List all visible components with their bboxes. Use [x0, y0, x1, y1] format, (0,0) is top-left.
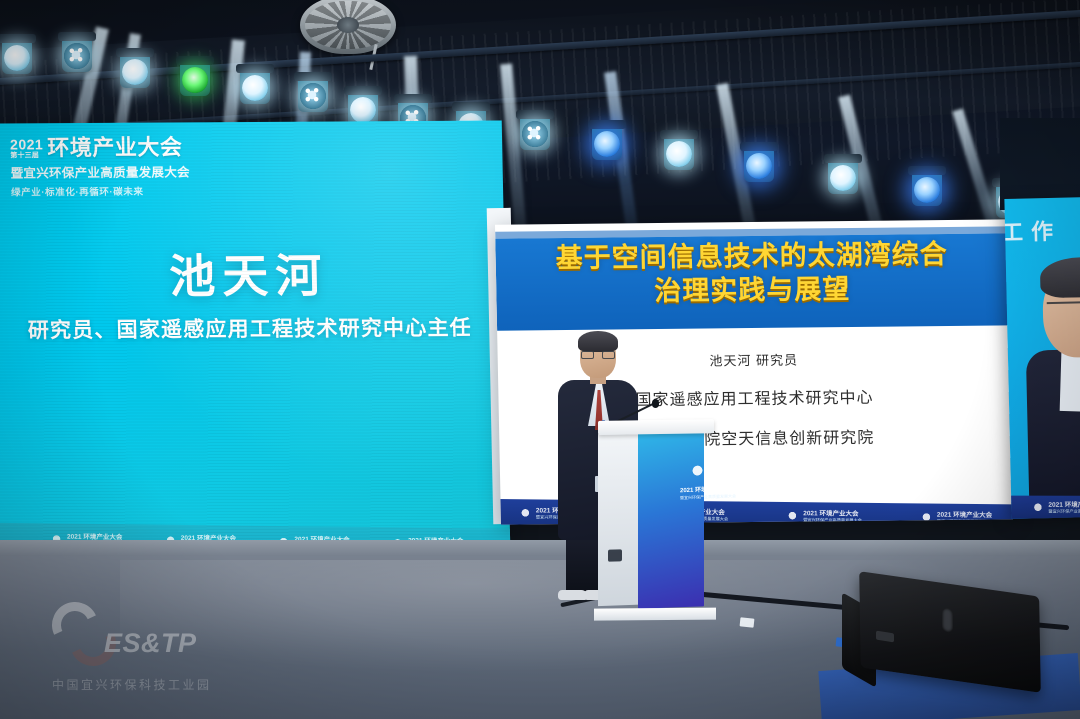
event-logo-tagline: 绿产业·标准化·再循环·碳未来 — [11, 183, 203, 198]
estp-mark-icon — [920, 512, 933, 525]
podium-front-panel: 2021 环境产业大会 暨宜兴环保产业高质量发展大会 — [638, 430, 704, 608]
monitor-speaker-handle — [942, 607, 953, 633]
stage-light-fixture — [120, 54, 150, 88]
event-logo: 2021 第十三届 环境产业大会 暨宜兴环保产业高质量发展大会 绿产业·标准化·… — [10, 136, 203, 198]
event-logo-title: 环境产业大会 — [47, 136, 182, 159]
speaker-hair — [578, 331, 618, 352]
feed-speaker-glasses-icon — [1047, 300, 1080, 314]
speaker-title: 研究员、国家遥感应用工程技术研究中心主任 — [0, 311, 506, 344]
stage-light-fixture — [520, 116, 550, 150]
stage-light-fixture — [298, 78, 328, 112]
stage-light-fixture — [240, 70, 270, 104]
back-wall — [1000, 118, 1080, 210]
event-logo-subtitle: 暨宜兴环保产业高质量发展大会 — [10, 161, 202, 181]
right-screen-caption: 工作 — [1004, 214, 1061, 247]
mini-logo-line2: 暨宜兴环保产业高质量发展大会 — [803, 518, 862, 523]
watermark-logo: ES&TP 中国宜兴环保科技工业园 — [48, 602, 258, 706]
stage-light-fixture — [664, 136, 694, 170]
event-logo-year: 2021 — [10, 137, 43, 151]
stage-light-fixture — [744, 148, 774, 182]
stage-light-fixture — [828, 160, 858, 194]
cable-tape-mark — [740, 617, 755, 627]
podium-logo: 2021 环境产业大会 暨宜兴环保产业高质量发展大会 — [680, 464, 714, 501]
stage-light-fixture — [2, 40, 32, 74]
mini-logo: 2021 环境产业大会 暨宜兴环保产业高质量发展大会 — [1031, 502, 1080, 515]
mini-logo: 2021 环境产业大会 暨宜兴环保产业高质量发展大会 — [920, 512, 996, 525]
mini-logo: 2021 环境产业大会 暨宜兴环保产业高质量发展大会 — [786, 511, 862, 525]
stage-edge — [0, 540, 1080, 556]
slide-title: 基于空间信息技术的太湖湾综合 治理实践与展望 — [495, 237, 1008, 310]
led-screen-camera-feed: 工作 2021 环境产业大会 暨宜兴环保产业高质量发展大会 — [1004, 197, 1080, 519]
right-screen-sponsor-band: 2021 环境产业大会 暨宜兴环保产业高质量发展大会 — [1004, 496, 1080, 519]
podium-side-panel — [608, 549, 622, 561]
watermark-chinese: 中国宜兴环保科技工业园 — [52, 676, 212, 693]
feed-speaker-shirt — [1060, 351, 1080, 412]
speaker-name: 池天河 — [0, 238, 505, 307]
stage-light-fixture — [62, 38, 92, 72]
estp-mark-icon — [786, 511, 799, 524]
slide-title-line1: 基于空间信息技术的太湖湾综合 — [509, 237, 994, 276]
stage-light-fixture — [180, 62, 210, 96]
estp-mark-icon — [1031, 502, 1044, 515]
podium-logo-line2: 暨宜兴环保产业高质量发展大会 — [680, 494, 714, 501]
mini-logo-line2: 暨宜兴环保产业高质量发展大会 — [1048, 510, 1080, 515]
podium-top-surface — [598, 419, 714, 435]
estp-mark-icon — [689, 464, 706, 482]
stage-monitor-speaker — [846, 578, 1078, 696]
feed-speaker-hair — [1040, 256, 1080, 298]
event-logo-edition: 第十三届 — [10, 152, 43, 159]
ceiling-fan-icon — [300, 0, 396, 54]
podium-base — [594, 608, 716, 621]
podium-side — [598, 433, 640, 606]
speaker-glasses-icon — [581, 351, 615, 359]
stage-light-fixture — [912, 172, 942, 206]
stage-light-fixture — [592, 126, 622, 160]
estp-mark-icon — [519, 508, 532, 521]
conference-stage-photo: 2021 第十三届 环境产业大会 暨宜兴环保产业高质量发展大会 绿产业·标准化·… — [0, 0, 1080, 719]
watermark-brand: ES&TP — [104, 628, 197, 659]
podium: 2021 环境产业大会 暨宜兴环保产业高质量发展大会 — [612, 426, 704, 611]
slide-title-line2: 治理实践与展望 — [510, 271, 995, 310]
mini-logo-line2: 暨宜兴环保产业高质量发展大会 — [937, 520, 996, 525]
podium-logo-line1: 2021 环境产业大会 — [680, 484, 714, 494]
led-wall-main: 2021 第十三届 环境产业大会 暨宜兴环保产业高质量发展大会 绿产业·标准化·… — [0, 120, 510, 555]
